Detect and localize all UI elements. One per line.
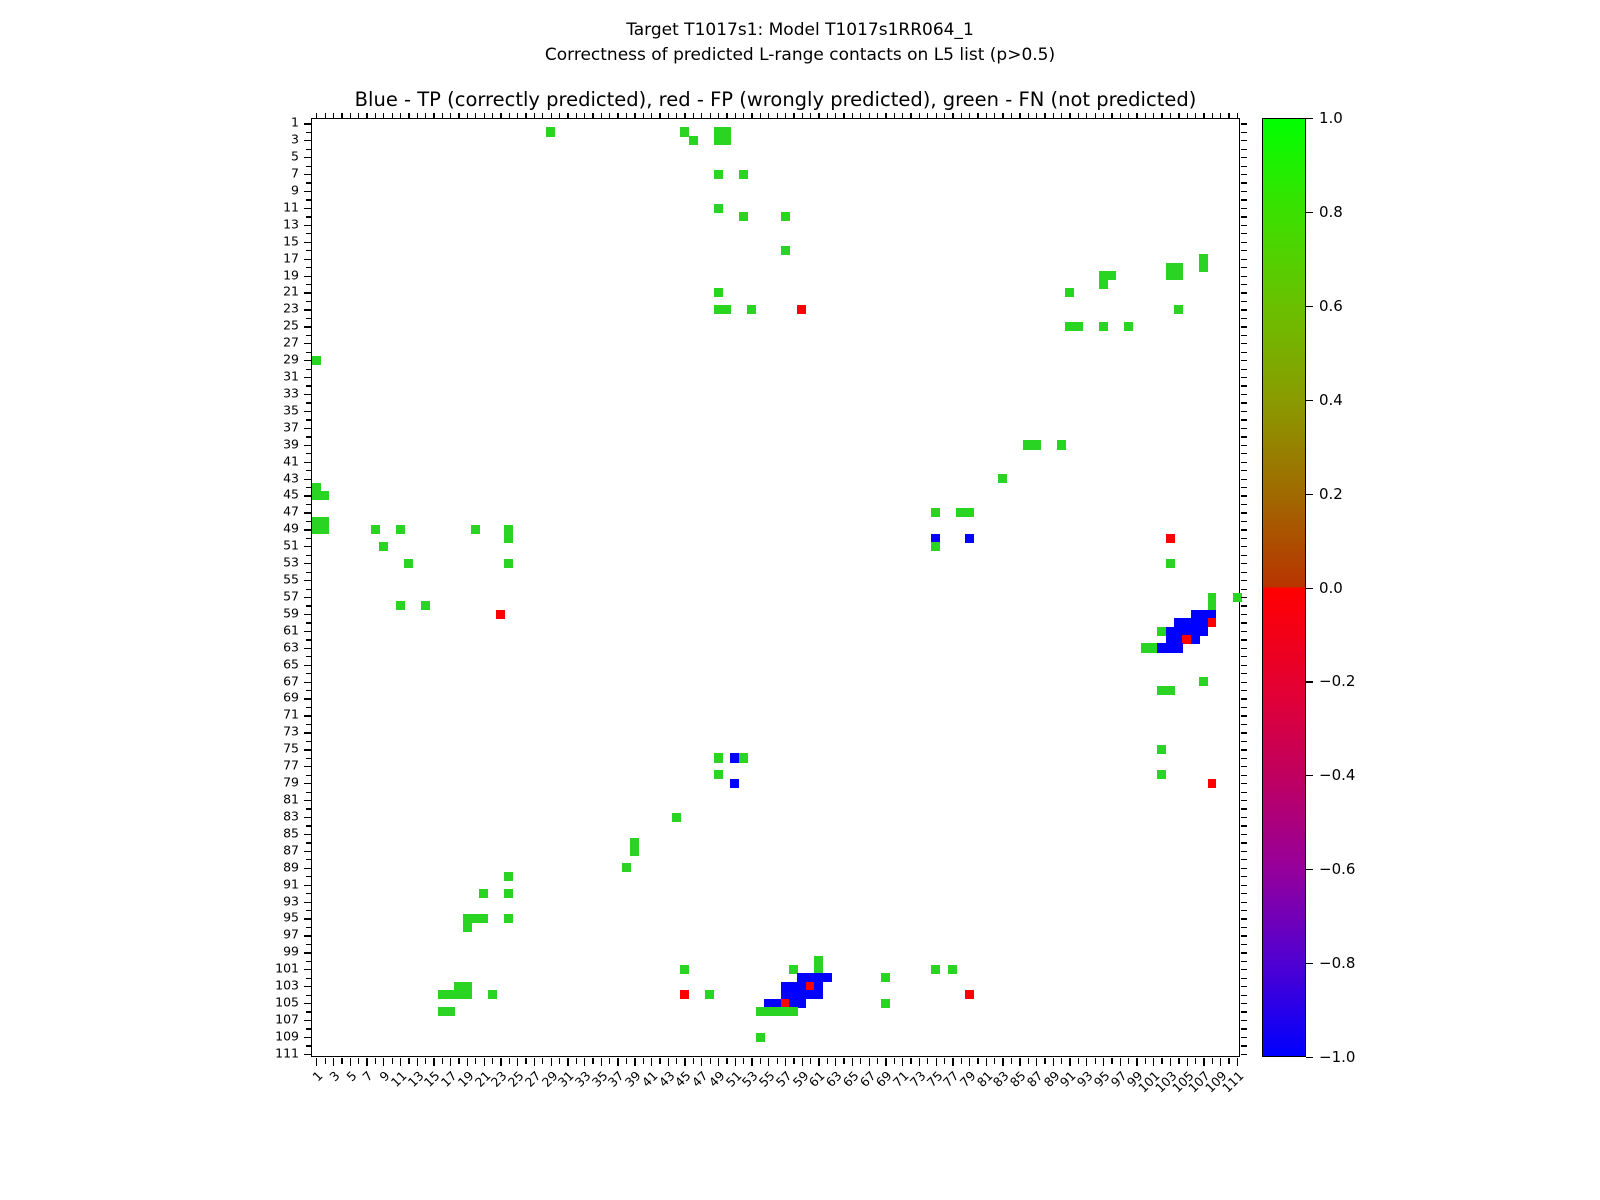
- y-tick: [306, 1011, 312, 1012]
- x-tick: [852, 1058, 853, 1066]
- y-tick: [306, 944, 312, 945]
- cell-fn-green: [463, 982, 472, 991]
- cell-fn-green: [504, 559, 513, 568]
- y-tick-right: [1241, 1054, 1247, 1055]
- x-tick-top: [1145, 113, 1146, 119]
- x-tick: [350, 1058, 351, 1066]
- x-tick-top: [567, 113, 568, 119]
- y-tick: [304, 597, 312, 598]
- y-tick-right: [1241, 758, 1247, 759]
- cell-fn-green: [714, 204, 723, 213]
- cell-fp-red: [797, 305, 806, 314]
- x-tick: [1019, 1058, 1020, 1066]
- x-tick-top: [869, 113, 870, 119]
- x-tick: [944, 1058, 945, 1064]
- y-tick-right: [1241, 1037, 1247, 1038]
- y-tick-label: 45: [283, 487, 299, 502]
- cell-fn-green: [463, 923, 472, 932]
- y-tick: [306, 335, 312, 336]
- y-tick-right: [1241, 369, 1247, 370]
- cell-fn-green: [1157, 745, 1166, 754]
- y-tick: [306, 605, 312, 606]
- y-tick-label: 71: [283, 707, 299, 722]
- colorbar-tick: [1306, 588, 1313, 589]
- y-tick-label: 47: [283, 504, 299, 519]
- y-tick-right: [1241, 259, 1247, 260]
- cell-fn-green: [312, 356, 321, 365]
- y-tick: [306, 318, 312, 319]
- y-tick: [304, 225, 312, 226]
- x-tick-top: [433, 113, 434, 119]
- cell-fn-green: [931, 542, 940, 551]
- y-tick: [306, 808, 312, 809]
- y-tick-right: [1241, 174, 1247, 175]
- y-tick-label: 23: [283, 301, 299, 316]
- x-tick-top: [919, 113, 920, 119]
- x-tick-top: [475, 113, 476, 119]
- colorbar-tick: [1306, 118, 1313, 119]
- y-tick-right: [1241, 978, 1247, 979]
- y-tick: [306, 436, 312, 437]
- x-tick: [1061, 1058, 1062, 1064]
- x-tick: [1095, 1058, 1096, 1064]
- x-tick: [818, 1058, 819, 1066]
- y-tick: [304, 749, 312, 750]
- x-tick-top: [450, 113, 451, 119]
- y-tick: [304, 665, 312, 666]
- x-tick: [1069, 1058, 1070, 1066]
- y-tick-right: [1241, 199, 1247, 200]
- y-tick-right: [1241, 986, 1247, 987]
- y-tick-right: [1241, 157, 1247, 158]
- y-tick: [304, 563, 312, 564]
- y-tick-right: [1241, 250, 1247, 251]
- y-tick-right: [1241, 276, 1247, 277]
- x-tick: [659, 1058, 660, 1064]
- x-tick-top: [735, 113, 736, 119]
- y-tick: [306, 876, 312, 877]
- cell-tp-blue: [823, 973, 832, 982]
- y-tick: [306, 707, 312, 708]
- x-tick-top: [643, 113, 644, 119]
- cell-fn-green: [722, 136, 731, 145]
- x-tick-top: [693, 113, 694, 119]
- x-tick-top: [601, 113, 602, 119]
- y-tick: [306, 216, 312, 217]
- y-tick-right: [1241, 233, 1247, 234]
- x-tick: [525, 1058, 526, 1064]
- y-tick-right: [1241, 555, 1247, 556]
- y-tick-label: 111: [275, 1045, 299, 1060]
- y-tick-right: [1241, 301, 1247, 302]
- y-tick-right: [1241, 572, 1247, 573]
- y-tick-right: [1241, 580, 1247, 581]
- x-tick: [1145, 1058, 1146, 1064]
- cell-fn-green: [479, 914, 488, 923]
- y-tick-right: [1241, 352, 1247, 353]
- x-tick: [718, 1058, 719, 1066]
- y-tick-right: [1241, 868, 1247, 869]
- x-tick-top: [358, 113, 359, 119]
- y-tick: [306, 250, 312, 251]
- y-tick: [306, 741, 312, 742]
- x-tick: [366, 1058, 367, 1066]
- y-tick-label: 59: [283, 605, 299, 620]
- x-tick-top: [1178, 113, 1179, 119]
- x-tick: [1011, 1058, 1012, 1064]
- y-tick-right: [1241, 428, 1247, 429]
- cell-fn-green: [881, 973, 890, 982]
- y-tick-label: 67: [283, 673, 299, 688]
- x-tick-top: [634, 113, 635, 119]
- x-tick-top: [768, 113, 769, 119]
- x-tick: [735, 1058, 736, 1066]
- y-tick-label: 89: [283, 859, 299, 874]
- y-tick-right: [1241, 851, 1247, 852]
- y-tick: [304, 174, 312, 175]
- y-tick-label: 7: [291, 165, 299, 180]
- x-tick: [994, 1058, 995, 1064]
- x-tick-top: [1053, 113, 1054, 119]
- y-tick-label: 13: [283, 216, 299, 231]
- colorbar[interactable]: [1262, 118, 1306, 1057]
- cell-fn-green: [965, 508, 974, 517]
- y-tick-right: [1241, 470, 1247, 471]
- colorbar-tick: [1306, 400, 1313, 401]
- y-tick-right: [1241, 995, 1247, 996]
- y-tick-right: [1241, 648, 1247, 649]
- y-tick-right: [1241, 656, 1247, 657]
- x-tick: [668, 1058, 669, 1066]
- y-tick: [304, 935, 312, 936]
- y-tick-right: [1241, 673, 1247, 674]
- x-tick: [684, 1058, 685, 1066]
- x-tick-top: [726, 113, 727, 119]
- y-tick: [306, 453, 312, 454]
- y-tick: [304, 1054, 312, 1055]
- y-tick: [304, 952, 312, 953]
- x-tick-top: [1161, 113, 1162, 119]
- y-tick-right: [1241, 487, 1247, 488]
- y-tick-right: [1241, 749, 1247, 750]
- x-tick-top: [442, 113, 443, 119]
- x-tick: [676, 1058, 677, 1064]
- y-tick-right: [1241, 411, 1247, 412]
- y-tick-right: [1241, 834, 1247, 835]
- y-tick: [306, 521, 312, 522]
- colorbar-tick: [1306, 681, 1313, 682]
- y-tick-label: 61: [283, 622, 299, 637]
- x-tick-top: [375, 113, 376, 119]
- x-tick-top: [927, 113, 928, 119]
- y-tick: [306, 910, 312, 911]
- y-tick-right: [1241, 631, 1247, 632]
- contact-map-plot[interactable]: [311, 118, 1240, 1057]
- y-tick-right: [1241, 140, 1247, 141]
- x-tick-top: [1069, 113, 1070, 119]
- x-tick: [726, 1058, 727, 1064]
- colorbar-tick-label: 0.2: [1319, 485, 1343, 503]
- y-tick: [306, 233, 312, 234]
- y-tick: [306, 419, 312, 420]
- y-tick-label: 51: [283, 538, 299, 553]
- cell-fn-green: [1166, 686, 1175, 695]
- cell-fn-green: [396, 601, 405, 610]
- cell-fn-green: [630, 847, 639, 856]
- colorbar-tick-label: −0.4: [1319, 766, 1355, 784]
- y-tick: [304, 698, 312, 699]
- y-tick: [304, 918, 312, 919]
- x-tick: [467, 1058, 468, 1066]
- cell-fn-green: [320, 525, 329, 534]
- y-tick-label: 33: [283, 385, 299, 400]
- x-tick: [1153, 1058, 1154, 1066]
- cell-fn-green: [622, 863, 631, 872]
- y-tick: [306, 1028, 312, 1029]
- cell-fn-green: [404, 559, 413, 568]
- figure-suptitle: Target T1017s1: Model T1017s1RR064_1 Cor…: [0, 18, 1600, 67]
- y-tick: [306, 572, 312, 573]
- x-tick: [1044, 1058, 1045, 1064]
- cell-fn-green: [689, 136, 698, 145]
- y-tick-label: 101: [275, 961, 299, 976]
- cell-fn-green: [1174, 263, 1183, 272]
- y-tick: [306, 690, 312, 691]
- cell-fn-green: [948, 965, 957, 974]
- figure-canvas: Target T1017s1: Model T1017s1RR064_1 Cor…: [0, 0, 1600, 1200]
- x-tick: [358, 1058, 359, 1064]
- x-tick: [1228, 1058, 1229, 1064]
- y-tick-right: [1241, 792, 1247, 793]
- x-tick: [634, 1058, 635, 1066]
- y-tick-label: 57: [283, 588, 299, 603]
- x-tick: [458, 1058, 459, 1064]
- cell-fn-green: [1099, 322, 1108, 331]
- cell-fn-green: [881, 999, 890, 1008]
- y-tick: [304, 800, 312, 801]
- colorbar-tick: [1306, 869, 1313, 870]
- cell-fn-green: [1124, 322, 1133, 331]
- x-tick: [977, 1058, 978, 1064]
- colorbar-tick: [1306, 212, 1313, 213]
- cell-fn-green: [463, 990, 472, 999]
- x-tick: [1237, 1058, 1238, 1066]
- colorbar-tick-label: −0.2: [1319, 672, 1355, 690]
- y-tick-right: [1241, 538, 1247, 539]
- x-tick: [509, 1058, 510, 1064]
- y-tick: [304, 1020, 312, 1021]
- y-tick-right: [1241, 182, 1247, 183]
- x-tick-top: [584, 113, 585, 119]
- x-tick-top: [1028, 113, 1029, 119]
- x-tick: [601, 1058, 602, 1066]
- y-tick: [304, 648, 312, 649]
- y-tick-right: [1241, 132, 1247, 133]
- cell-fn-green: [488, 990, 497, 999]
- y-tick-right: [1241, 521, 1247, 522]
- x-tick-top: [492, 113, 493, 119]
- y-tick: [306, 622, 312, 623]
- y-tick-right: [1241, 707, 1247, 708]
- cell-fn-green: [722, 305, 731, 314]
- y-tick: [304, 715, 312, 716]
- y-tick-label: 79: [283, 775, 299, 790]
- y-tick: [304, 157, 312, 158]
- cell-fn-green: [396, 525, 405, 534]
- y-tick-right: [1241, 462, 1247, 463]
- y-tick: [304, 326, 312, 327]
- x-tick-top: [576, 113, 577, 119]
- y-tick-label: 15: [283, 233, 299, 248]
- x-tick: [1136, 1058, 1137, 1066]
- y-tick-label: 49: [283, 521, 299, 536]
- x-tick: [392, 1058, 393, 1064]
- x-tick: [693, 1058, 694, 1064]
- y-tick-right: [1241, 267, 1247, 268]
- x-tick-top: [350, 113, 351, 119]
- y-tick-right: [1241, 292, 1247, 293]
- y-tick: [306, 859, 312, 860]
- y-tick: [306, 758, 312, 759]
- y-tick-label: 77: [283, 758, 299, 773]
- x-tick: [919, 1058, 920, 1066]
- colorbar-tick: [1306, 494, 1313, 495]
- y-tick-label: 31: [283, 369, 299, 384]
- x-tick-top: [534, 113, 535, 119]
- y-tick-right: [1241, 1045, 1247, 1046]
- x-tick-top: [467, 113, 468, 119]
- y-tick-label: 43: [283, 470, 299, 485]
- cell-fn-green: [781, 212, 790, 221]
- cell-fn-green: [504, 872, 513, 881]
- y-tick-label: 55: [283, 572, 299, 587]
- x-tick: [743, 1058, 744, 1064]
- y-tick: [304, 140, 312, 141]
- x-tick: [860, 1058, 861, 1064]
- y-tick-right: [1241, 1011, 1247, 1012]
- x-tick-label: 7: [360, 1068, 376, 1084]
- y-tick: [306, 825, 312, 826]
- y-tick: [304, 208, 312, 209]
- x-tick-top: [785, 113, 786, 119]
- x-tick-top: [500, 113, 501, 119]
- y-tick-right: [1241, 504, 1247, 505]
- y-tick: [304, 783, 312, 784]
- cell-fp-red: [680, 990, 689, 999]
- y-tick: [304, 123, 312, 124]
- y-tick: [306, 385, 312, 386]
- x-tick: [500, 1058, 501, 1066]
- x-tick-top: [743, 113, 744, 119]
- x-tick: [827, 1058, 828, 1064]
- cell-tp-blue: [730, 779, 739, 788]
- x-tick-top: [551, 113, 552, 119]
- y-tick-right: [1241, 1003, 1247, 1004]
- y-tick: [306, 199, 312, 200]
- x-tick: [592, 1058, 593, 1064]
- colorbar-tick-label: 0.8: [1319, 203, 1343, 221]
- cell-fn-green: [747, 305, 756, 314]
- y-tick-right: [1241, 597, 1247, 598]
- x-tick-top: [760, 113, 761, 119]
- cell-fn-green: [1065, 288, 1074, 297]
- x-tick: [1178, 1058, 1179, 1064]
- x-tick: [910, 1058, 911, 1064]
- y-tick-label: 29: [283, 352, 299, 367]
- y-tick: [304, 885, 312, 886]
- y-tick: [306, 792, 312, 793]
- y-tick-label: 83: [283, 808, 299, 823]
- y-tick-right: [1241, 732, 1247, 733]
- x-tick-top: [668, 113, 669, 119]
- y-tick: [306, 352, 312, 353]
- y-tick-right: [1241, 208, 1247, 209]
- cell-fn-green: [1166, 559, 1175, 568]
- y-tick-right: [1241, 419, 1247, 420]
- x-tick-top: [425, 113, 426, 119]
- y-tick: [304, 851, 312, 852]
- y-tick: [306, 149, 312, 150]
- colorbar-tick: [1306, 1057, 1313, 1058]
- y-tick: [304, 1003, 312, 1004]
- y-tick-label: 35: [283, 402, 299, 417]
- y-tick: [306, 166, 312, 167]
- x-tick: [793, 1058, 794, 1064]
- contact-map-cells: [312, 119, 1239, 1056]
- cell-tp-blue: [1174, 643, 1183, 652]
- x-tick-top: [1111, 113, 1112, 119]
- cell-fn-green: [1099, 280, 1108, 289]
- y-tick: [304, 868, 312, 869]
- x-tick-top: [366, 113, 367, 119]
- y-tick-right: [1241, 225, 1247, 226]
- cell-fn-green: [714, 770, 723, 779]
- colorbar-tick-label: 0.0: [1319, 579, 1343, 597]
- x-tick: [316, 1058, 317, 1066]
- x-tick-top: [400, 113, 401, 119]
- x-tick: [751, 1058, 752, 1066]
- x-tick: [408, 1058, 409, 1064]
- colorbar-tick-label: −1.0: [1319, 1048, 1355, 1066]
- y-tick-right: [1241, 825, 1247, 826]
- y-tick-right: [1241, 495, 1247, 496]
- cell-fn-green: [1174, 271, 1183, 280]
- y-tick-label: 99: [283, 944, 299, 959]
- y-tick-label: 37: [283, 419, 299, 434]
- x-tick-top: [626, 113, 627, 119]
- cell-fp-red: [1166, 534, 1175, 543]
- x-tick: [400, 1058, 401, 1066]
- cell-fn-green: [1107, 271, 1116, 280]
- cell-fn-green: [1074, 322, 1083, 331]
- x-tick: [1220, 1058, 1221, 1066]
- x-tick: [584, 1058, 585, 1066]
- x-tick-top: [659, 113, 660, 119]
- x-tick: [710, 1058, 711, 1064]
- cell-fn-green: [680, 965, 689, 974]
- y-tick-label: 87: [283, 842, 299, 857]
- y-tick: [306, 842, 312, 843]
- y-tick-right: [1241, 546, 1247, 547]
- y-tick-label: 63: [283, 639, 299, 654]
- x-tick: [341, 1058, 342, 1064]
- x-tick: [1053, 1058, 1054, 1066]
- x-tick-top: [802, 113, 803, 119]
- x-tick: [383, 1058, 384, 1066]
- y-tick: [304, 512, 312, 513]
- cell-fn-green: [931, 508, 940, 517]
- x-tick-top: [1128, 113, 1129, 119]
